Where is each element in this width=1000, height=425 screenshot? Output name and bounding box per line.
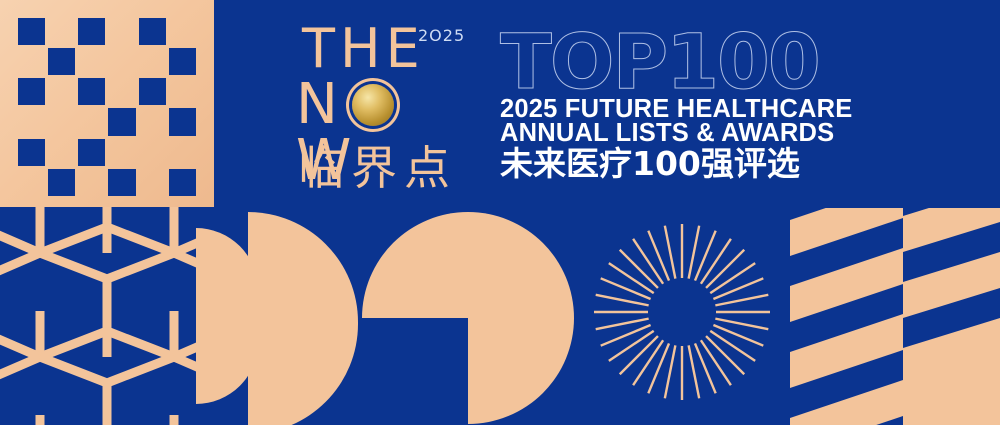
checker-cell <box>169 48 196 75</box>
checkerboard-pattern <box>0 0 214 207</box>
logo-word-the: THE <box>302 22 425 76</box>
sunburst-ray <box>715 319 768 330</box>
sunburst-svg <box>592 222 772 402</box>
checker-cell <box>108 48 135 75</box>
checker-cell <box>108 18 135 45</box>
sunburst-ray <box>601 278 651 299</box>
notched-circle <box>362 212 574 424</box>
checker-cell <box>108 78 135 105</box>
the-now-logo: THE 2O25 N W 临界点 <box>296 22 486 194</box>
headline-cn-line: 未来医疗100强评选 <box>500 146 800 182</box>
checker-cell <box>18 169 45 196</box>
headline-top100: TOP100 <box>500 24 819 100</box>
checker-cell <box>139 169 166 196</box>
checker-cell <box>48 48 75 75</box>
checker-cell <box>108 108 135 135</box>
checker-cell <box>18 18 45 45</box>
checker-cell <box>139 48 166 75</box>
logo-now-letter-n: N <box>296 77 342 133</box>
checker-cell <box>18 78 45 105</box>
checker-cell <box>78 169 105 196</box>
checker-cell <box>139 139 166 166</box>
checkerboard-grid <box>18 18 196 196</box>
checker-cell <box>18 108 45 135</box>
diagonal-stripes-right <box>903 208 1000 425</box>
sunburst-ray <box>713 278 763 299</box>
headline-en-line-2: ANNUAL LISTS & AWARDS <box>500 120 834 146</box>
diagonal-stripes-right-svg <box>903 208 1000 425</box>
checker-cell <box>169 18 196 45</box>
checker-cell <box>48 108 75 135</box>
hexagon-lattice-pattern <box>0 207 214 425</box>
half-circle-large <box>248 212 358 425</box>
sunburst-ray <box>713 325 763 346</box>
poster-canvas: THE 2O25 N W 临界点 TOP100 2025 FUTURE HEAL… <box>0 0 1000 425</box>
checker-cell <box>169 108 196 135</box>
diagonal-stripes-left <box>790 208 903 425</box>
checker-cell <box>139 78 166 105</box>
sunburst-rays <box>592 222 772 402</box>
sunburst-ray <box>648 343 669 393</box>
sunburst-ray <box>596 319 649 330</box>
checker-cell <box>78 108 105 135</box>
checker-cell <box>48 139 75 166</box>
headline-block: TOP100 2025 FUTURE HEALTHCARE ANNUAL LIS… <box>500 24 840 196</box>
checker-cell <box>78 18 105 45</box>
sunburst-ray <box>596 295 649 306</box>
sunburst-ray <box>665 226 676 279</box>
diagonal-stripes-left-svg <box>790 208 903 425</box>
sunburst-ray <box>689 226 700 279</box>
checker-cell <box>139 108 166 135</box>
gold-orb-icon <box>352 84 394 126</box>
checker-cell <box>48 18 75 45</box>
sunburst-ray <box>695 231 716 281</box>
checker-cell <box>139 18 166 45</box>
checker-cell <box>78 48 105 75</box>
checker-cell <box>169 169 196 196</box>
checker-cell <box>108 169 135 196</box>
hexagon-lattice-svg <box>0 207 214 425</box>
checker-cell <box>169 78 196 105</box>
sunburst-ray <box>601 325 651 346</box>
checker-cell <box>48 78 75 105</box>
checker-cell <box>108 139 135 166</box>
checker-cell <box>78 78 105 105</box>
checker-cell <box>48 169 75 196</box>
checker-cell <box>169 139 196 166</box>
sunburst-ray <box>665 345 676 398</box>
checker-cell <box>18 139 45 166</box>
sunburst-ray <box>648 231 669 281</box>
checker-cell <box>78 139 105 166</box>
logo-word-chinese: 临界点 <box>298 144 457 192</box>
logo-year-badge: 2O25 <box>418 26 465 45</box>
sunburst-ray <box>695 343 716 393</box>
sunburst-ray <box>715 295 768 306</box>
checker-cell <box>18 48 45 75</box>
sunburst-ray <box>689 345 700 398</box>
notched-circle-svg <box>362 212 574 424</box>
